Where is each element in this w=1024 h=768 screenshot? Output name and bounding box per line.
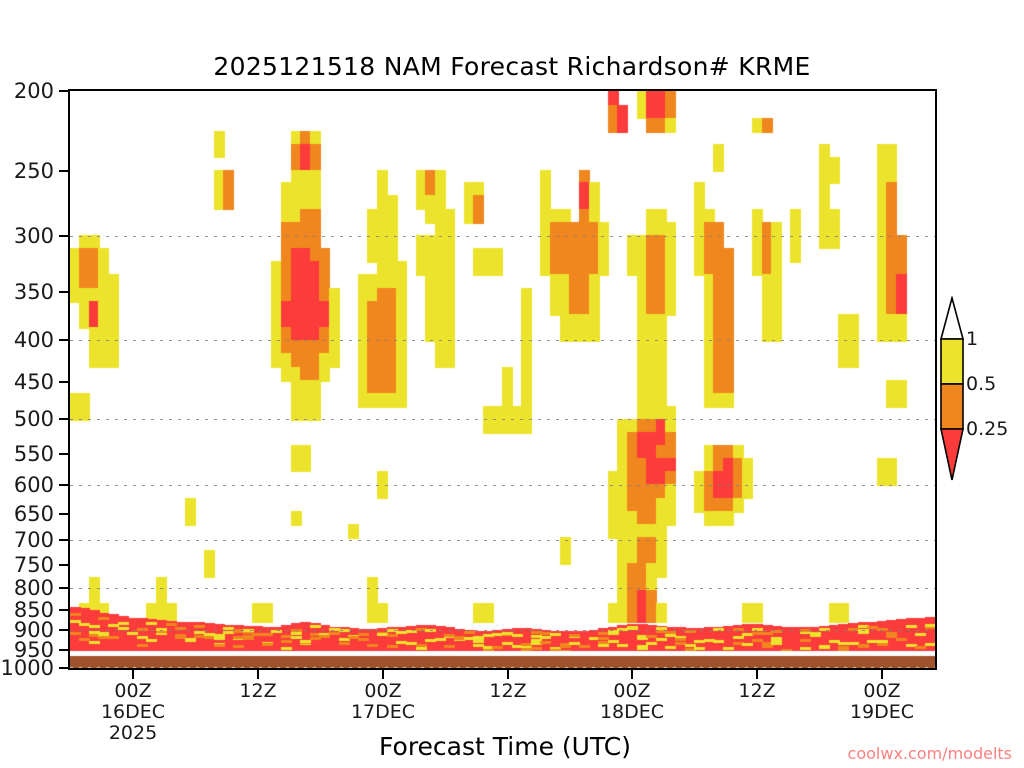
x-tick-mark-3	[507, 670, 509, 679]
x-tick-mark-0	[132, 670, 134, 679]
y-tick-mark-300	[59, 235, 68, 237]
y-tick-mark-400	[59, 339, 68, 341]
x-tick-time: 12Z	[239, 680, 276, 702]
x-tick-label-6: 00Z19DEC	[850, 681, 914, 723]
y-axis: 2002503003504004505005506006507007508008…	[0, 0, 68, 768]
colorbar-label-0.25: 0.25	[966, 418, 1008, 440]
y-tick-mark-250	[59, 170, 68, 172]
x-tick-time: 12Z	[738, 680, 775, 702]
chart-canvas: 2025121518 NAM Forecast Richardson# KRME…	[0, 0, 1024, 768]
y-tick-label-750: 750	[14, 553, 54, 577]
colorbar-extend-top	[941, 298, 963, 339]
page-title: 2025121518 NAM Forecast Richardson# KRME	[0, 52, 1024, 81]
x-tick-date: 17DEC	[351, 702, 415, 723]
colorbar-band-orange	[941, 384, 963, 429]
x-tick-time: 12Z	[489, 680, 526, 702]
x-tick-label-1: 12Z	[239, 681, 276, 702]
x-tick-time: 00Z	[613, 680, 650, 702]
watermark-link[interactable]: coolwx.com/modelts	[848, 744, 1012, 763]
y-tick-mark-550	[59, 453, 68, 455]
x-tick-date: 16DEC	[101, 702, 165, 723]
x-tick-label-5: 12Z	[738, 681, 775, 702]
y-tick-label-400: 400	[14, 328, 54, 352]
y-tick-label-200: 200	[14, 79, 54, 103]
x-tick-mark-5	[756, 670, 758, 679]
x-tick-date: 18DEC	[600, 702, 664, 723]
x-tick-mark-4	[631, 670, 633, 679]
x-tick-mark-6	[881, 670, 883, 679]
x-tick-time: 00Z	[364, 680, 401, 702]
y-tick-label-650: 650	[14, 502, 54, 526]
y-tick-label-1000: 1000	[1, 656, 54, 680]
y-tick-label-250: 250	[14, 159, 54, 183]
colorbar-label-0.5: 0.5	[966, 373, 996, 395]
y-tick-label-300: 300	[14, 224, 54, 248]
y-tick-label-450: 450	[14, 370, 54, 394]
colorbar-legend: 1 0.5 0.25	[938, 296, 1024, 482]
plot-area	[68, 89, 937, 670]
y-tick-mark-700	[59, 539, 68, 541]
y-tick-label-700: 700	[14, 528, 54, 552]
y-tick-label-800: 800	[14, 576, 54, 600]
heatmap-raster	[70, 91, 935, 668]
y-tick-mark-200	[59, 90, 68, 92]
y-tick-label-500: 500	[14, 407, 54, 431]
y-tick-mark-850	[59, 609, 68, 611]
y-tick-mark-950	[59, 649, 68, 651]
y-tick-mark-900	[59, 629, 68, 631]
colorbar-label-1: 1	[966, 328, 978, 350]
y-tick-mark-350	[59, 291, 68, 293]
y-tick-mark-650	[59, 513, 68, 515]
x-tick-date: 19DEC	[850, 702, 914, 723]
y-tick-label-600: 600	[14, 473, 54, 497]
x-tick-label-4: 00Z18DEC	[600, 681, 664, 723]
x-tick-label-3: 12Z	[489, 681, 526, 702]
gridline-1000	[70, 668, 935, 669]
x-tick-time: 00Z	[114, 680, 151, 702]
y-tick-mark-500	[59, 418, 68, 420]
y-tick-label-350: 350	[14, 280, 54, 304]
y-tick-mark-1000	[59, 667, 68, 669]
y-tick-mark-750	[59, 564, 68, 566]
x-tick-label-2: 00Z17DEC	[351, 681, 415, 723]
colorbar-extend-bottom	[941, 429, 963, 480]
colorbar-band-yellow	[941, 339, 963, 384]
x-tick-mark-2	[382, 670, 384, 679]
colorbar-swatches	[938, 296, 966, 482]
y-tick-mark-450	[59, 381, 68, 383]
x-tick-mark-1	[257, 670, 259, 679]
x-tick-time: 00Z	[863, 680, 900, 702]
y-tick-mark-800	[59, 587, 68, 589]
y-tick-mark-600	[59, 484, 68, 486]
y-tick-label-550: 550	[14, 442, 54, 466]
